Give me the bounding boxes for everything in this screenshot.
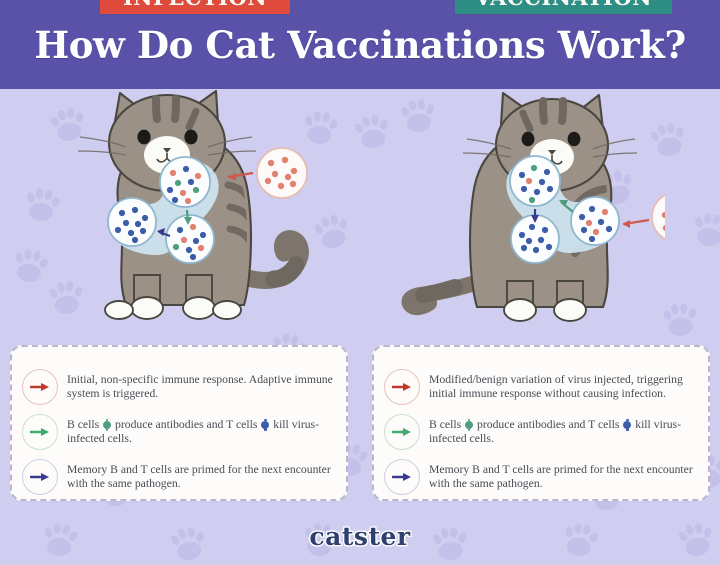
t-cell-glyph: [623, 421, 631, 429]
footer: catster: [0, 508, 720, 565]
b-cell-glyph: [103, 421, 111, 429]
infection-bullet-list: Initial, non-specific immune response. A…: [12, 365, 346, 495]
infection-panel: Initial, non-specific immune response. A…: [10, 345, 348, 501]
bullet-text: Memory B and T cells are primed for the …: [429, 463, 696, 491]
memory-cell-cluster: [108, 198, 156, 246]
list-item: Initial, non-specific immune response. A…: [22, 369, 334, 405]
catster-logo: catster: [309, 522, 410, 551]
pathogen-circle: [257, 148, 307, 198]
page-title: How Do Cat Vaccinations Work?: [34, 23, 686, 67]
list-item: B cells produce antibodies and T cells k…: [22, 414, 334, 450]
list-item: B cells produce antibodies and T cells k…: [384, 414, 696, 450]
blue-arrow-icon: [22, 459, 58, 495]
vaccination-panel: Modified/benign variation of virus injec…: [372, 345, 710, 501]
bullet-text: Memory B and T cells are primed for the …: [67, 463, 334, 491]
bullet-text: Modified/benign variation of virus injec…: [429, 373, 696, 401]
infection-tag: INFECTION: [100, 0, 290, 14]
infected-cat-illustration: [60, 89, 360, 329]
cell-cluster-top: [160, 157, 210, 207]
cell-cluster-bottom: [166, 215, 214, 263]
b-cell-glyph: [465, 421, 473, 429]
t-cell-glyph: [261, 421, 269, 429]
flow-arrow-red: [622, 220, 649, 228]
cell-cluster-left: [571, 197, 619, 245]
red-arrow-icon: [384, 369, 420, 405]
cell-cluster-top: [510, 156, 560, 206]
vaccinated-cat-illustration: [365, 89, 665, 329]
list-item: Modified/benign variation of virus injec…: [384, 369, 696, 405]
vaccine-circle: [652, 192, 665, 242]
green-arrow-icon: [22, 414, 58, 450]
red-arrow-icon: [22, 369, 58, 405]
infographic-poster: How Do Cat Vaccinations Work?: [0, 0, 720, 565]
blue-arrow-icon: [384, 459, 420, 495]
green-arrow-icon: [384, 414, 420, 450]
bullet-text: B cells produce antibodies and T cells k…: [67, 418, 334, 446]
bullet-text: Initial, non-specific immune response. A…: [67, 373, 334, 401]
vaccination-bullet-list: Modified/benign variation of virus injec…: [374, 365, 708, 495]
list-item: Memory B and T cells are primed for the …: [22, 459, 334, 495]
illustration-area: [0, 89, 720, 329]
bullet-text: B cells produce antibodies and T cells k…: [429, 418, 696, 446]
list-item: Memory B and T cells are primed for the …: [384, 459, 696, 495]
vaccination-tag: VACCINATION: [455, 0, 672, 14]
